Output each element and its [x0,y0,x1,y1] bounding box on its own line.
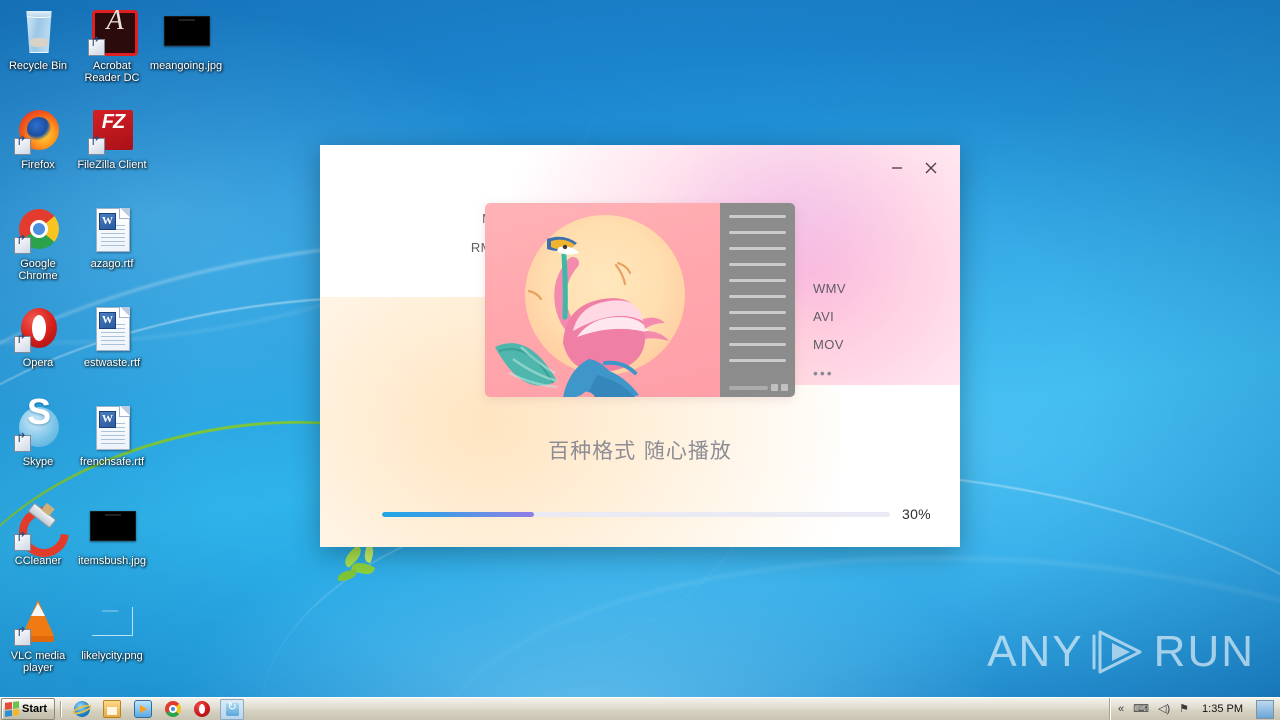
windows-media-player-icon[interactable] [134,700,152,718]
desktop-icon-acrobat-reader[interactable]: AcrobatReader DC [74,8,150,84]
anyrun-watermark-right: RUN [1154,627,1255,677]
playlist-row [729,359,786,362]
recycle-bin-icon [14,8,62,56]
taskbar-separator [60,701,61,717]
anyrun-play-icon [1090,626,1148,678]
playlist-row [729,247,786,250]
desktop-icon-vlc-media-player[interactable]: VLC mediaplayer [0,598,76,674]
png-thumbnail-icon [88,598,136,646]
desktop-icon-label: VLC mediaplayer [0,650,76,674]
progress-fill [382,512,534,517]
shortcut-overlay-icon [88,39,105,56]
desktop-icon-label: azago.rtf [74,258,150,270]
installer-task-icon [226,703,239,716]
installer-task-button[interactable] [220,699,244,720]
shortcut-overlay-icon [14,336,31,353]
word-document-icon: W [88,206,136,254]
start-button[interactable]: Start [1,698,55,720]
image-thumbnail-icon [88,503,136,551]
network-icon[interactable]: ⌨ [1133,704,1149,715]
playlist-row [729,215,786,218]
opera-icon[interactable] [194,701,210,717]
format-label-avi: AVI [813,309,903,324]
playlist-row [729,311,786,314]
desktop-icon-label: GoogleChrome [0,258,76,282]
shortcut-overlay-icon [14,435,31,452]
desktop-icon-firefox[interactable]: Firefox [0,107,76,171]
show-hidden-icons-icon[interactable]: « [1118,704,1124,715]
desktop-icon-label: FileZilla Client [74,159,150,171]
playlist-row [729,343,786,346]
format-label-mov: MOV [813,337,903,352]
flamingo-illustration [485,203,720,397]
hero-section: MP4 RMVB FLV [320,203,960,403]
skype-icon [14,404,62,452]
playlist-row [729,231,786,234]
internet-explorer-icon[interactable] [74,701,90,717]
shortcut-overlay-icon [14,138,31,155]
desktop-icon-label: Recycle Bin [0,60,76,72]
desktop-icon-opera[interactable]: Opera [0,305,76,369]
anyrun-watermark-left: ANY [987,627,1083,677]
desktop-icon-label: estwaste.rtf [74,357,150,369]
tagline-text: 百种格式 随心播放 [320,435,960,465]
taskbar-clock[interactable]: 1:35 PM [1198,703,1247,715]
playlist-footer-bar [729,386,768,390]
playlist-row [729,279,786,282]
word-document-icon: W [88,305,136,353]
playlist-footer-button-icon [771,384,778,391]
install-progress: 30% [382,506,940,522]
installer-window: MP4 RMVB FLV [320,145,960,547]
format-list-right: WMV AVI MOV ••• [813,281,903,394]
player-playlist-panel [720,203,795,397]
desktop-icon-filezilla[interactable]: FileZilla Client [74,107,150,171]
desktop-icon-itemsbush-jpg[interactable]: itemsbush.jpg [74,503,150,567]
progress-percent-label: 30% [902,506,940,522]
filezilla-icon [88,107,136,155]
playlist-row [729,327,786,330]
playlist-row [729,295,786,298]
quick-launch-bar [74,700,210,718]
start-button-label: Start [22,703,47,715]
windows-logo-icon [5,701,19,717]
desktop-icon-google-chrome[interactable]: GoogleChrome [0,206,76,282]
desktop-icon-likelycity-png[interactable]: likelycity.png [74,598,150,662]
player-video-area [485,203,720,397]
chrome-icon [14,206,62,254]
playlist-footer-button-icon [781,384,788,391]
volume-icon[interactable]: ◁) [1158,704,1170,715]
taskbar: Start « ⌨ ◁) ⚑ 1:35 PM [0,697,1280,720]
desktop-icon-ccleaner[interactable]: CCleaner [0,503,76,567]
shortcut-overlay-icon [88,138,105,155]
image-thumbnail-icon [162,8,210,56]
ccleaner-icon [14,503,62,551]
playlist-footer [729,384,788,391]
progress-track [382,512,890,517]
word-document-icon: W [88,404,136,452]
desktop-icon-label: meangoing.jpg [148,60,224,72]
desktop-icon-skype[interactable]: Skype [0,404,76,468]
desktop-icon-azago-rtf[interactable]: W azago.rtf [74,206,150,270]
desktop-screen: Recycle Bin AcrobatReader DC meangoing.j… [0,0,1280,720]
action-center-flag-icon[interactable]: ⚑ [1179,704,1189,715]
desktop-icon-label: AcrobatReader DC [74,60,150,84]
firefox-icon [14,107,62,155]
desktop-icon-label: Firefox [0,159,76,171]
anyrun-watermark: ANY RUN [987,626,1255,678]
show-desktop-button[interactable] [1256,700,1274,719]
shortcut-overlay-icon [14,534,31,551]
format-label-wmv: WMV [813,281,903,296]
format-label-more: ••• [813,365,903,381]
video-player-preview [485,203,795,397]
desktop-icon-label: frenchsafe.rtf [74,456,150,468]
windows-explorer-icon[interactable] [103,700,121,718]
desktop-icon-label: likelycity.png [74,650,150,662]
chrome-icon[interactable] [165,701,181,717]
desktop-icon-label: itemsbush.jpg [74,555,150,567]
desktop-icon-frenchsafe-rtf[interactable]: W frenchsafe.rtf [74,404,150,468]
acrobat-reader-icon [88,8,136,56]
desktop-icon-estwaste-rtf[interactable]: W estwaste.rtf [74,305,150,369]
dialog-content: MP4 RMVB FLV [320,145,960,547]
system-tray: « ⌨ ◁) ⚑ 1:35 PM [1109,698,1280,720]
playlist-row [729,263,786,266]
opera-icon [14,305,62,353]
desktop-icon-meangoing-jpg[interactable]: meangoing.jpg [148,8,224,72]
shortcut-overlay-icon [14,237,31,254]
desktop-icon-label: Skype [0,456,76,468]
shortcut-overlay-icon [14,629,31,646]
desktop-icon-recycle-bin[interactable]: Recycle Bin [0,8,76,72]
vlc-icon [14,598,62,646]
desktop-icon-label: Opera [0,357,76,369]
